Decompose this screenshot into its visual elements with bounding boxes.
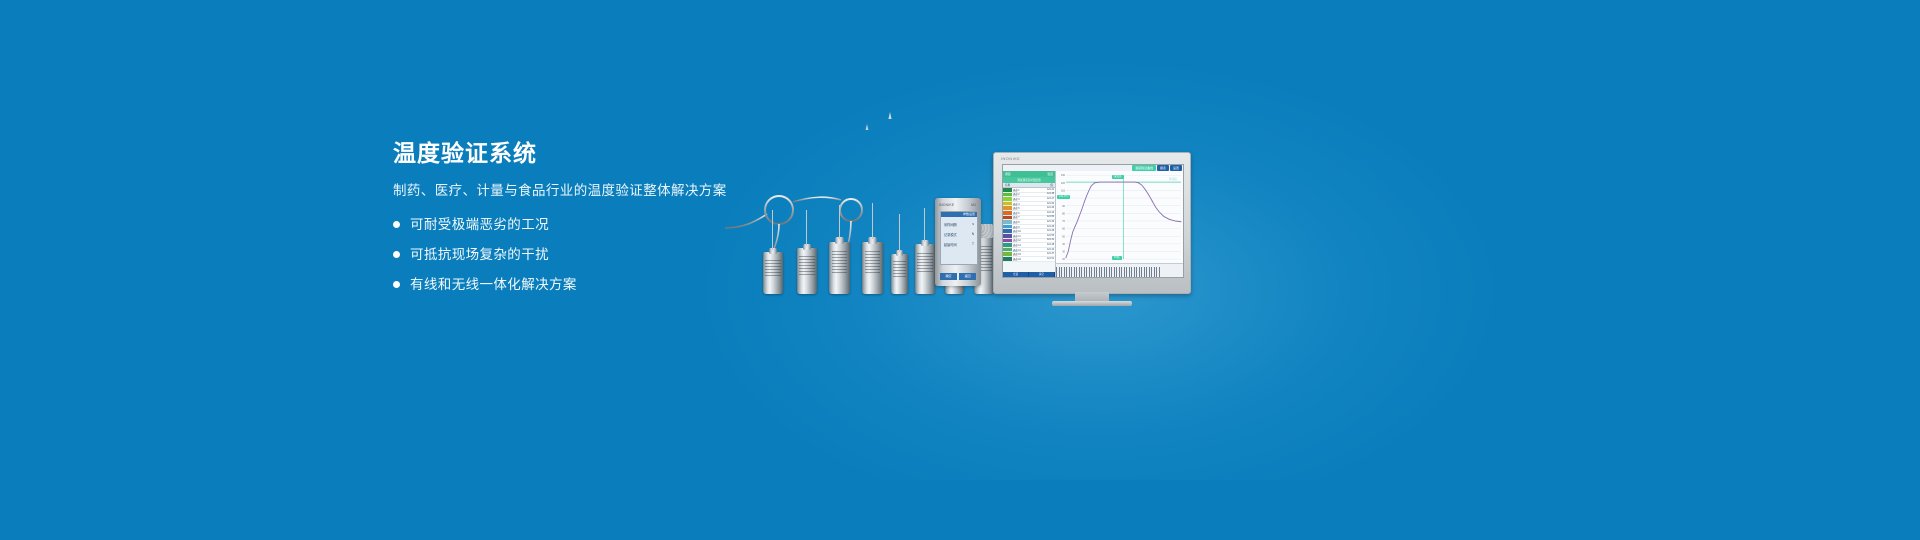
channel-color-swatch [1003, 229, 1012, 233]
prev-page-button[interactable]: 上一页 [1047, 277, 1063, 278]
x-axis-tick [1116, 267, 1117, 277]
channel-value: 121.39 [1047, 230, 1055, 232]
x-axis-tick [1124, 267, 1125, 277]
x-axis-tick [1086, 267, 1087, 277]
x-axis-tick [1111, 267, 1112, 277]
cursor-top-label: 保温区 [1112, 175, 1124, 179]
x-axis-tick [1071, 267, 1072, 277]
probe-1-stem [772, 210, 773, 250]
channel-value: 121.42 [1047, 249, 1055, 251]
channel-color-swatch [1003, 206, 1012, 210]
svg-text:110: 110 [1061, 189, 1065, 192]
x-axis-tick [1154, 267, 1155, 277]
svg-text:130: 130 [1061, 174, 1066, 177]
chart-pane: 2030405060708090100110120130 保温区 F0值 121… [1056, 171, 1183, 277]
app-bottom-toolbar: 开始采集 停止采集 上一页 下一页 保存 打印 [1003, 277, 1183, 278]
channel-color-swatch [1003, 243, 1012, 247]
col-header-name: 名称 [1005, 183, 1010, 187]
channel-name: 通道 4 [1012, 202, 1047, 206]
channel-value: 121.51 [1047, 258, 1055, 260]
channel-name: 通道 12 [1012, 238, 1047, 242]
temperature-col-label: 温度 [1047, 172, 1053, 176]
x-axis-tick [1159, 267, 1160, 277]
probe-5-stem [899, 214, 900, 252]
probe-3-stem [839, 205, 840, 239]
channel-value: 121.48 [1047, 244, 1055, 246]
feature-bullet-label: 有线和无线一体化解决方案 [410, 278, 577, 292]
channel-col-label: 通道 [1005, 172, 1011, 176]
channel-color-swatch [1003, 197, 1012, 201]
handheld-param-row: 采样间隔 s [941, 222, 977, 227]
channel-color-swatch [1003, 188, 1012, 192]
channel-color-swatch [1003, 239, 1012, 243]
handheld-model-label: M1 [971, 203, 976, 207]
handheld-brand-label: INONIKE [939, 203, 954, 207]
x-axis-tick [1149, 267, 1150, 277]
handheld-param-value: s [972, 222, 974, 227]
x-axis-tick [1104, 267, 1105, 277]
handheld-param-value: T [972, 242, 974, 247]
x-axis-tick [1106, 267, 1107, 277]
monitor-screen: 温度验证曲线 报表 设置 通道 温度 测试通道实时温度值 名称 值 [1002, 164, 1184, 278]
channel-name: 通道 13 [1012, 243, 1047, 247]
handheld-confirm-button[interactable]: 确定 [940, 273, 957, 280]
channel-color-swatch [1003, 252, 1012, 256]
stop-acquisition-button[interactable]: 停止采集 [1026, 277, 1045, 278]
handheld-param-label: 起始时间 [944, 242, 957, 247]
handheld-param-value: N [972, 232, 974, 237]
probe-1 [763, 252, 783, 294]
x-axis-tick [1151, 267, 1152, 277]
x-axis-tick [1146, 267, 1147, 277]
handheld-logger-device[interactable]: INONIKE M1 参数设置 采样间隔 s 记录模式 N 起始时间 T 确定 [935, 198, 981, 286]
channel-name: 通道 5 [1012, 206, 1047, 210]
bullet-dot-icon [393, 221, 400, 228]
handheld-screen: 参数设置 采样间隔 s 记录模式 N 起始时间 T [940, 211, 978, 265]
probe-2 [797, 248, 817, 294]
x-axis-tick [1061, 267, 1062, 277]
x-axis-tick [1081, 267, 1082, 277]
channel-name: 通道 11 [1012, 234, 1047, 238]
x-axis-tick [1139, 267, 1140, 277]
temperature-chart-svg: 2030405060708090100110120130 [1056, 171, 1183, 263]
x-axis-tick [1069, 267, 1070, 277]
channel-color-swatch [1003, 220, 1012, 224]
x-axis-tick [1141, 267, 1142, 277]
channel-rows[interactable]: 通道 1121.41通道 2121.38通道 3121.47通道 4121.52… [1003, 188, 1055, 272]
channel-color-swatch [1003, 216, 1012, 220]
channel-name: 通道 9 [1012, 225, 1047, 229]
x-axis-tick [1126, 267, 1127, 277]
save-button[interactable]: 保存 [1152, 277, 1166, 278]
handheld-param-label: 记录模式 [944, 232, 957, 237]
x-axis-tick [1074, 267, 1075, 277]
bullet-dot-icon [393, 281, 400, 288]
probe-2-stem [806, 210, 807, 246]
channel-value: 121.33 [1047, 221, 1055, 223]
x-axis-tick [1094, 267, 1095, 277]
handheld-param-label: 采样间隔 [944, 222, 957, 227]
x-axis-tick [1091, 267, 1092, 277]
x-axis-tick-strip [1056, 263, 1183, 277]
x-axis-tick [1101, 267, 1102, 277]
monitor-stand-base [1052, 301, 1132, 306]
channel-value: 121.41 [1047, 189, 1055, 191]
handheld-back-button[interactable]: 返回 [959, 273, 976, 280]
x-axis-tick [1131, 267, 1132, 277]
validation-monitor-device: INONIKE 温度验证曲线 报表 设置 通道 温度 测试通道实时温度值 [993, 152, 1191, 294]
channel-name: 通道 10 [1012, 229, 1047, 233]
channel-name: 通道 3 [1012, 197, 1047, 201]
x-axis-tick [1059, 267, 1060, 277]
channel-name: 通道 14 [1012, 248, 1047, 252]
probe-4 [862, 242, 883, 294]
handheld-button-bar: 确定 返回 [940, 273, 976, 280]
channel-value: 121.50 [1047, 216, 1055, 218]
x-axis-tick [1119, 267, 1120, 277]
channel-color-swatch [1003, 202, 1012, 206]
x-axis-tick [1079, 267, 1080, 277]
channel-color-swatch [1003, 234, 1012, 238]
start-acquisition-button[interactable]: 开始采集 [1005, 277, 1024, 278]
channel-sidebar: 通道 温度 测试通道实时温度值 名称 值 通道 1121.41通道 2121.3… [1003, 171, 1056, 277]
x-axis-tick [1076, 267, 1077, 277]
x-axis-tick [1114, 267, 1115, 277]
channel-value: 121.31 [1047, 239, 1055, 241]
handheld-param-row: 记录模式 N [941, 232, 977, 237]
x-axis-tick [1099, 267, 1100, 277]
x-axis-tick [1134, 267, 1135, 277]
threshold-label: 121.0°C [1057, 195, 1070, 199]
print-button[interactable]: 打印 [1167, 277, 1181, 278]
channel-name: 通道 15 [1012, 252, 1047, 256]
channel-name: 通道 2 [1012, 192, 1047, 196]
svg-text:120: 120 [1061, 182, 1066, 185]
channel-value: 121.46 [1047, 226, 1055, 228]
probe-4-stem [872, 203, 873, 239]
product-photo-group: INONIKE M1 参数设置 采样间隔 s 记录模式 N 起始时间 T 确定 [715, 110, 1215, 310]
channel-color-swatch [1003, 193, 1012, 197]
x-axis-tick [1066, 267, 1067, 277]
probe-5 [891, 254, 908, 294]
handheld-param-row: 起始时间 T [941, 242, 977, 247]
x-axis-tick [1056, 267, 1057, 277]
channel-color-swatch [1003, 257, 1012, 261]
channel-name: 通道 8 [1012, 220, 1047, 224]
channel-value: 121.38 [1047, 193, 1055, 195]
probe-3 [829, 242, 850, 294]
channel-color-swatch [1003, 225, 1012, 229]
probe-6-stem [924, 208, 925, 242]
handheld-screen-title: 参数设置 [941, 212, 977, 217]
x-axis-tick [1084, 267, 1085, 277]
channel-value: 121.44 [1047, 212, 1055, 214]
channel-row[interactable]: 通道 16121.51 [1003, 257, 1055, 262]
app-body: 通道 温度 测试通道实时温度值 名称 值 通道 1121.41通道 2121.3… [1003, 171, 1183, 277]
x-axis-tick [1129, 267, 1130, 277]
temperature-chart[interactable]: 2030405060708090100110120130 保温区 F0值 121… [1056, 171, 1183, 263]
channel-value: 121.36 [1047, 207, 1055, 209]
col-header-value: 值 [1050, 183, 1053, 187]
channel-name: 通道 16 [1012, 257, 1047, 261]
channel-value: 121.37 [1047, 253, 1055, 255]
channel-name: 通道 6 [1012, 211, 1047, 215]
channel-value: 121.47 [1047, 198, 1055, 200]
x-axis-tick [1109, 267, 1110, 277]
x-axis-tick [1121, 267, 1122, 277]
x-axis-tick [1144, 267, 1145, 277]
cursor-bottom-label: F0值 [1112, 256, 1122, 260]
x-axis-tick [1089, 267, 1090, 277]
channel-name: 通道 1 [1012, 188, 1047, 192]
channel-value: 121.55 [1047, 235, 1055, 237]
x-axis-tick [1064, 267, 1065, 277]
channel-color-swatch [1003, 211, 1012, 215]
feature-bullet-label: 可耐受极端恶劣的工况 [410, 218, 549, 232]
x-axis-tick [1136, 267, 1137, 277]
x-axis-tick [1156, 267, 1157, 277]
channel-value: 121.52 [1047, 203, 1055, 205]
channel-name: 通道 7 [1012, 215, 1047, 219]
probe-6 [915, 244, 935, 294]
next-page-button[interactable]: 下一页 [1066, 277, 1082, 278]
marker-right-label: 降温段 [1169, 177, 1177, 181]
bullet-dot-icon [393, 251, 400, 258]
x-axis-tick [1096, 267, 1097, 277]
channel-color-swatch [1003, 248, 1012, 252]
feature-bullet-label: 可抵抗现场复杂的干扰 [410, 248, 549, 262]
monitor-brand-label: INONIKE [1001, 156, 1020, 161]
hero-banner: 温度验证系统 制药、医疗、计量与食品行业的温度验证整体解决方案 可耐受极端恶劣的… [0, 0, 1920, 540]
